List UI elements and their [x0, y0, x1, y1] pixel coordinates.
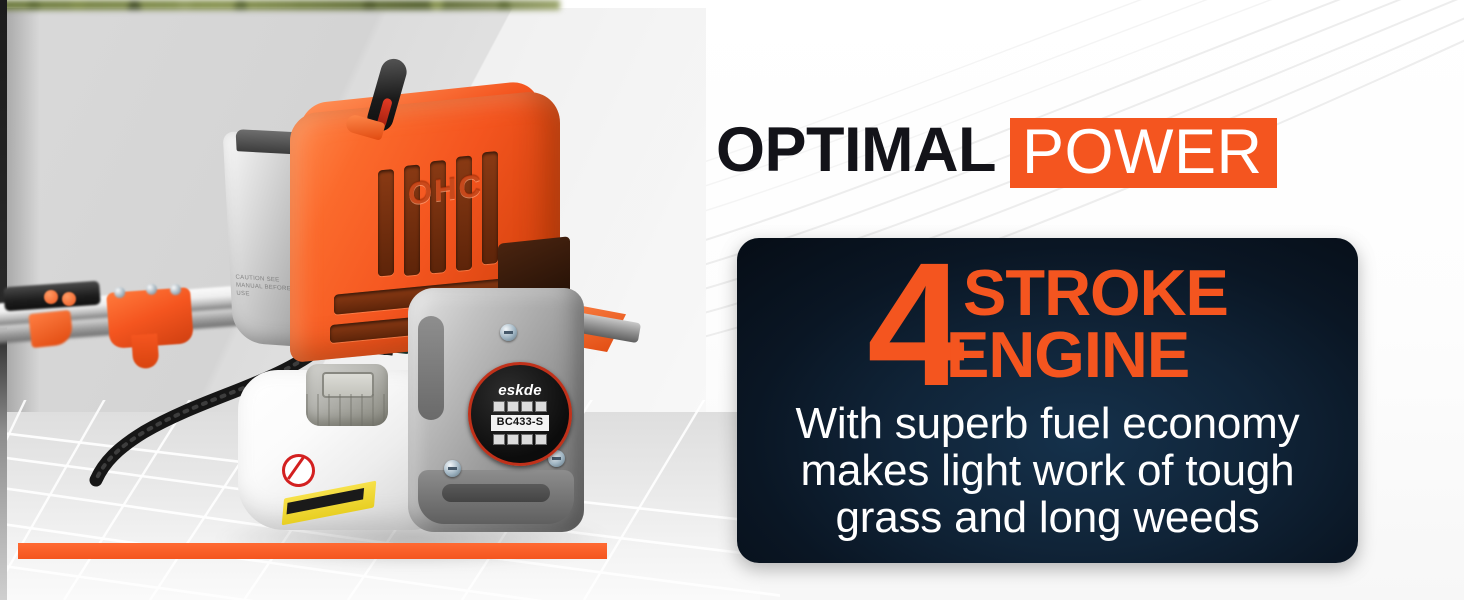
foliage-strip-decoration	[0, 0, 560, 10]
description-line-2: makes light work of tough	[751, 447, 1344, 494]
grip-accent-dot	[44, 290, 58, 304]
feature-card-inner: 4 STROKE ENGINE With superb fuel economy…	[737, 238, 1358, 563]
description-line-3: grass and long weeds	[751, 494, 1344, 541]
title-line-stroke: STROKE	[963, 262, 1228, 324]
stroke-engine-stack: STROKE ENGINE	[963, 252, 1228, 386]
handlebar-orange-tab	[28, 310, 73, 348]
feature-card-accent-bar	[18, 543, 607, 559]
product-brand-badge: eskde BC433-S	[468, 362, 572, 466]
model-number: BC433-S	[491, 415, 550, 430]
recoil-housing-ridge	[418, 316, 444, 420]
headline: OPTIMAL POWER	[716, 118, 1277, 188]
badge-pictogram-row-top	[493, 401, 547, 412]
feature-card: 4 STROKE ENGINE With superb fuel economy…	[737, 238, 1358, 563]
housing-screw	[500, 324, 517, 341]
headline-primary-text: OPTIMAL	[716, 118, 1010, 188]
housing-screw	[444, 460, 461, 477]
headline-accent-text: POWER	[1010, 118, 1277, 188]
brand-name: eskde	[498, 383, 542, 398]
feature-card-title: 4 STROKE ENGINE	[737, 252, 1358, 398]
title-line-engine: ENGINE	[946, 324, 1228, 386]
product-marketing-banner: CAUTION SEE MANUAL BEFORE USE OHC	[0, 0, 1464, 600]
fuel-cap	[306, 364, 388, 426]
grip-accent-dot	[62, 292, 76, 306]
description-line-1: With superb fuel economy	[751, 400, 1344, 447]
feature-card-description: With superb fuel economy makes light wor…	[751, 400, 1344, 541]
recoil-housing-foot	[418, 470, 574, 524]
badge-pictogram-row-bottom	[493, 434, 547, 445]
product-image-brushcutter: CAUTION SEE MANUAL BEFORE USE OHC	[0, 40, 700, 580]
